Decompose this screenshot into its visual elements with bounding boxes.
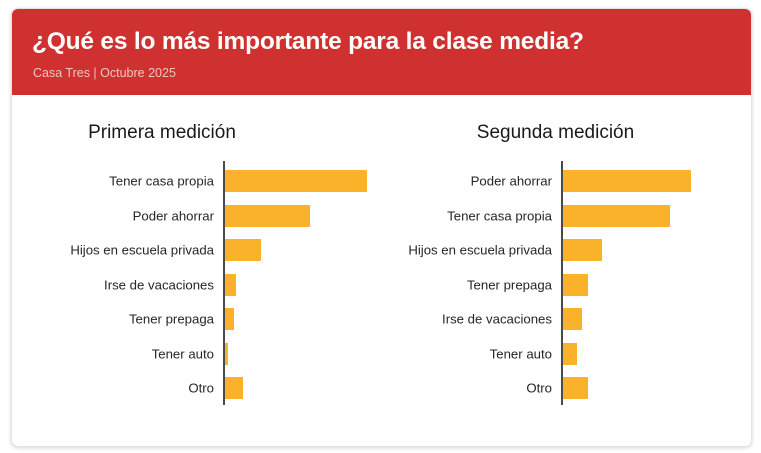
slide-card: ¿Qué es lo más importante para la clase … (11, 8, 752, 447)
bar-category-label: Irse de vacaciones (390, 312, 552, 327)
bar (225, 239, 261, 261)
bar-category-label: Hijos en escuela privada (12, 243, 214, 258)
bar-category-label: Tener prepaga (390, 277, 552, 292)
chart-panel-primera: Primera medición Tener casa propiaPoder … (12, 95, 390, 446)
bar (225, 377, 243, 399)
bar-row: Otro (390, 371, 751, 406)
header-subtitle: Casa Tres | Octubre 2025 (33, 66, 176, 80)
chart-plot-primera: Tener casa propiaPoder ahorrarHijos en e… (12, 161, 390, 405)
bar (563, 274, 588, 296)
bar-category-label: Otro (390, 381, 552, 396)
chart-title-segunda: Segunda medición (390, 122, 751, 144)
bar (225, 274, 236, 296)
bar (225, 308, 234, 330)
bar-category-label: Tener prepaga (12, 312, 214, 327)
bar-category-label: Tener auto (12, 346, 214, 361)
bar-row: Tener auto (12, 337, 390, 372)
page-title: ¿Qué es lo más importante para la clase … (32, 28, 584, 56)
bar (563, 170, 691, 192)
bar-category-label: Poder ahorrar (12, 208, 214, 223)
bar (563, 239, 602, 261)
bar-row: Poder ahorrar (12, 199, 390, 234)
bar (225, 205, 310, 227)
bar-row: Otro (12, 371, 390, 406)
chart-title-primera: Primera medición (12, 122, 390, 144)
bar-category-label: Poder ahorrar (390, 174, 552, 189)
bar (563, 205, 670, 227)
header-banner: ¿Qué es lo más importante para la clase … (12, 9, 751, 95)
bar-row: Tener prepaga (12, 302, 390, 337)
bar-row: Irse de vacaciones (390, 302, 751, 337)
bar-row: Tener prepaga (390, 268, 751, 303)
bar-row: Irse de vacaciones (12, 268, 390, 303)
bar-category-label: Tener casa propia (12, 174, 214, 189)
chart-panel-segunda: Segunda medición Poder ahorrarTener casa… (390, 95, 751, 446)
bar (225, 343, 228, 365)
bar (563, 377, 588, 399)
bar (225, 170, 367, 192)
bar-row: Tener casa propia (12, 164, 390, 199)
bar-category-label: Tener casa propia (390, 208, 552, 223)
bar (563, 308, 582, 330)
bar-category-label: Irse de vacaciones (12, 277, 214, 292)
bar-category-label: Tener auto (390, 346, 552, 361)
bar-category-label: Otro (12, 381, 214, 396)
bar-row: Tener casa propia (390, 199, 751, 234)
bar-row: Tener auto (390, 337, 751, 372)
bar-row: Hijos en escuela privada (390, 233, 751, 268)
bar-row: Poder ahorrar (390, 164, 751, 199)
chart-plot-segunda: Poder ahorrarTener casa propiaHijos en e… (390, 161, 751, 405)
bar-category-label: Hijos en escuela privada (390, 243, 552, 258)
bar (563, 343, 577, 365)
charts-area: Primera medición Tener casa propiaPoder … (12, 95, 751, 446)
bar-row: Hijos en escuela privada (12, 233, 390, 268)
